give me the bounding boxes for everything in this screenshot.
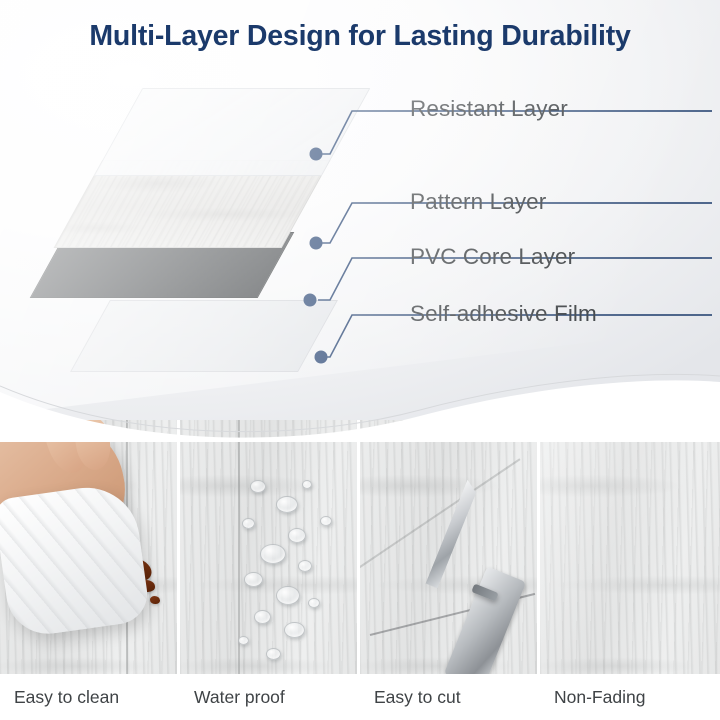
water-droplet-icon [266, 648, 281, 660]
feature-photo-grid: Easy to clean Water proof [0, 420, 720, 720]
water-droplet-icon [308, 598, 320, 608]
water-droplet-icon [242, 518, 255, 529]
water-droplet-icon [302, 480, 312, 489]
feature-cell-easy-to-cut: Easy to cut [360, 420, 540, 720]
page-title-text: Multi-Layer Design for Lasting Durabilit… [89, 20, 630, 53]
water-droplet-icon [244, 572, 263, 587]
callout-label-pvc-core-layer: PVC Core Layer [410, 244, 575, 270]
water-droplet-icon [254, 610, 271, 624]
water-droplet-icon [284, 622, 305, 638]
caption-bar: Non-Fading [540, 674, 720, 720]
feature-caption-water-proof: Water proof [194, 687, 285, 708]
feature-cell-water-proof: Water proof [180, 420, 360, 720]
water-droplet-icon [276, 586, 300, 605]
water-droplet-icon [320, 516, 332, 526]
callout-label-pattern-layer: Pattern Layer [410, 189, 546, 215]
water-droplet-icon [288, 528, 306, 543]
callout-label-resistant-layer: Resistant Layer [410, 96, 568, 122]
feature-cell-easy-to-clean: Easy to clean [0, 420, 180, 720]
water-droplet-icon [250, 480, 266, 493]
feature-caption-easy-to-cut: Easy to cut [374, 687, 461, 708]
caption-bar: Water proof [180, 674, 357, 720]
water-droplet-icon [276, 496, 298, 513]
callout-label-self-adhesive-film: Self-adhesive Film [410, 301, 597, 327]
water-droplet-icon [298, 560, 312, 572]
spill-stain [150, 596, 160, 604]
feature-caption-easy-to-clean: Easy to clean [14, 687, 119, 708]
product-infographic: Resistant Layer Pattern Layer PVC Core L… [0, 0, 720, 720]
feature-cell-non-fading: Non-Fading [540, 420, 720, 720]
resistant-layer [94, 88, 371, 176]
feature-caption-non-fading: Non-Fading [554, 687, 645, 708]
caption-bar: Easy to cut [360, 674, 537, 720]
caption-bar: Easy to clean [0, 674, 177, 720]
water-droplet-icon [260, 544, 286, 564]
water-droplet-icon [238, 636, 249, 645]
page-title: Multi-Layer Design for Lasting Durabilit… [0, 0, 720, 72]
wave-divider [0, 352, 720, 442]
